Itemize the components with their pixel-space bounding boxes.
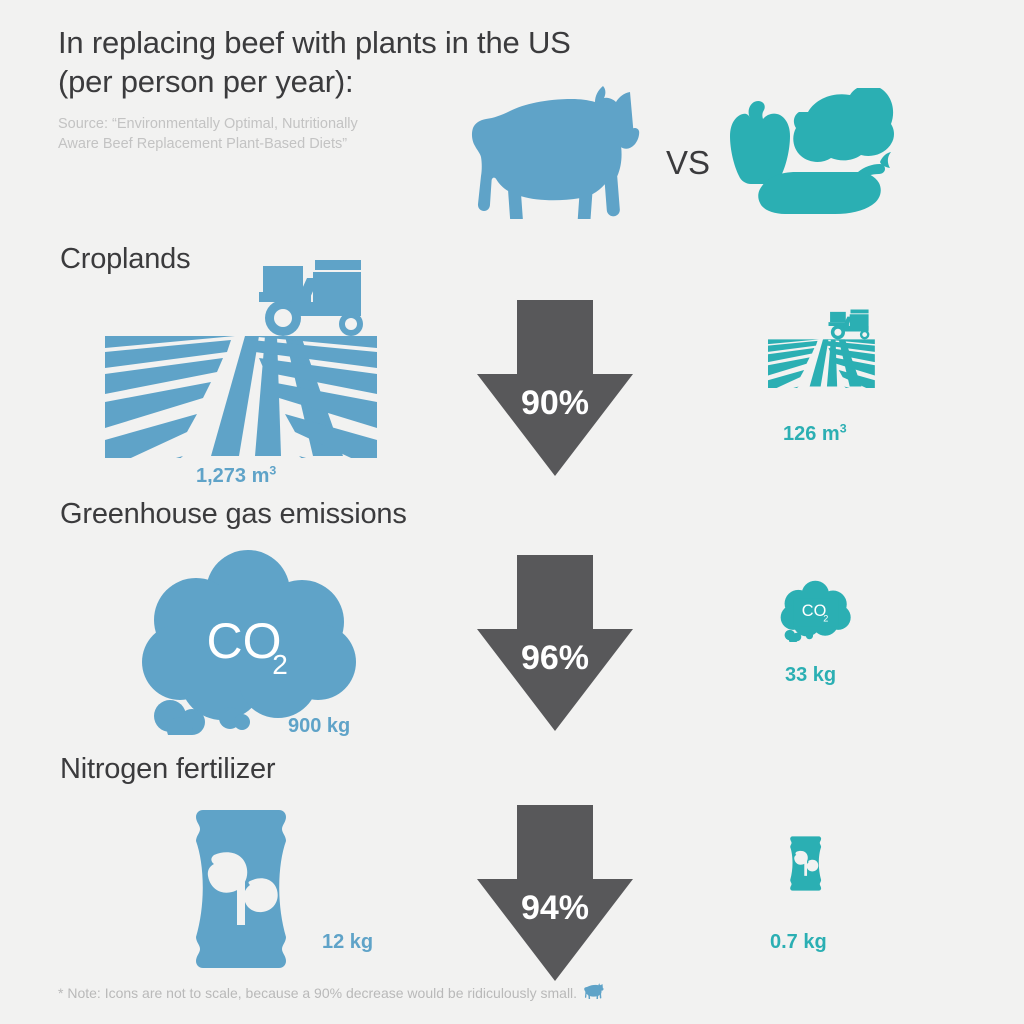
svg-text:2: 2 bbox=[823, 613, 828, 623]
plant-value-croplands-sup: 3 bbox=[840, 421, 847, 435]
reduction-arrow-croplands: 90% bbox=[475, 300, 635, 478]
section-croplands: Croplands bbox=[0, 243, 1024, 493]
section-heading-greenhouse-gas: Greenhouse gas emissions bbox=[60, 498, 407, 531]
plant-value-greenhouse-gas-text: 33 kg bbox=[785, 664, 836, 686]
reduction-arrow-greenhouse-gas: 96% bbox=[475, 555, 635, 733]
reduction-arrow-nitrogen-fertilizer: 94% bbox=[475, 805, 635, 983]
beef-value-croplands-text: 1,273 m bbox=[196, 465, 269, 487]
svg-text:CO: CO bbox=[207, 613, 282, 669]
reduction-percent-nitrogen-fertilizer: 94% bbox=[475, 889, 635, 928]
plant-value-nitrogen-fertilizer: 0.7 kg bbox=[770, 931, 827, 954]
co2-cloud-icon-small: CO 2 bbox=[780, 580, 852, 647]
svg-text:2: 2 bbox=[272, 649, 288, 680]
section-greenhouse-gas: Greenhouse gas emissions bbox=[0, 498, 1024, 748]
beef-value-greenhouse-gas-text: 900 kg bbox=[288, 715, 350, 737]
footnote-text: * Note: Icons are not to scale, because … bbox=[58, 985, 577, 1001]
plant-value-croplands-text: 126 m bbox=[783, 423, 840, 445]
fertilizer-bag-icon-small bbox=[784, 836, 828, 896]
section-nitrogen-fertilizer: Nitrogen fertilizer 12 kg 94% bbox=[0, 753, 1024, 975]
beef-value-nitrogen-fertilizer-text: 12 kg bbox=[322, 931, 373, 953]
cropland-field-tractor-icon-small bbox=[768, 308, 878, 393]
reduction-percent-greenhouse-gas: 96% bbox=[475, 639, 635, 678]
beef-value-nitrogen-fertilizer: 12 kg bbox=[322, 931, 373, 954]
beef-value-croplands: 1,273 m3 bbox=[196, 465, 276, 488]
beef-value-croplands-sup: 3 bbox=[269, 463, 276, 477]
mini-cow-icon bbox=[584, 983, 606, 1002]
footnote: * Note: Icons are not to scale, because … bbox=[58, 983, 606, 1002]
beef-value-greenhouse-gas: 900 kg bbox=[288, 715, 350, 738]
reduction-percent-croplands: 90% bbox=[475, 384, 635, 423]
source-citation: Source: “Environmentally Optimal, Nutrit… bbox=[58, 114, 458, 155]
vegetables-icon bbox=[720, 88, 910, 223]
vs-label: VS bbox=[666, 144, 710, 182]
fertilizer-bag-icon-large bbox=[178, 809, 306, 974]
section-heading-nitrogen-fertilizer: Nitrogen fertilizer bbox=[60, 753, 275, 786]
plant-value-croplands: 126 m3 bbox=[783, 423, 847, 446]
infographic-canvas: In replacing beef with plants in the US … bbox=[0, 0, 1024, 1024]
co2-cloud-icon-large: CO 2 bbox=[140, 550, 360, 740]
comparison-hero: VS bbox=[470, 82, 950, 232]
cow-icon bbox=[470, 84, 660, 224]
svg-text:CO: CO bbox=[802, 602, 827, 620]
plant-value-nitrogen-fertilizer-text: 0.7 kg bbox=[770, 931, 827, 953]
cropland-field-tractor-icon-large bbox=[105, 258, 385, 463]
plant-value-greenhouse-gas: 33 kg bbox=[785, 664, 836, 687]
